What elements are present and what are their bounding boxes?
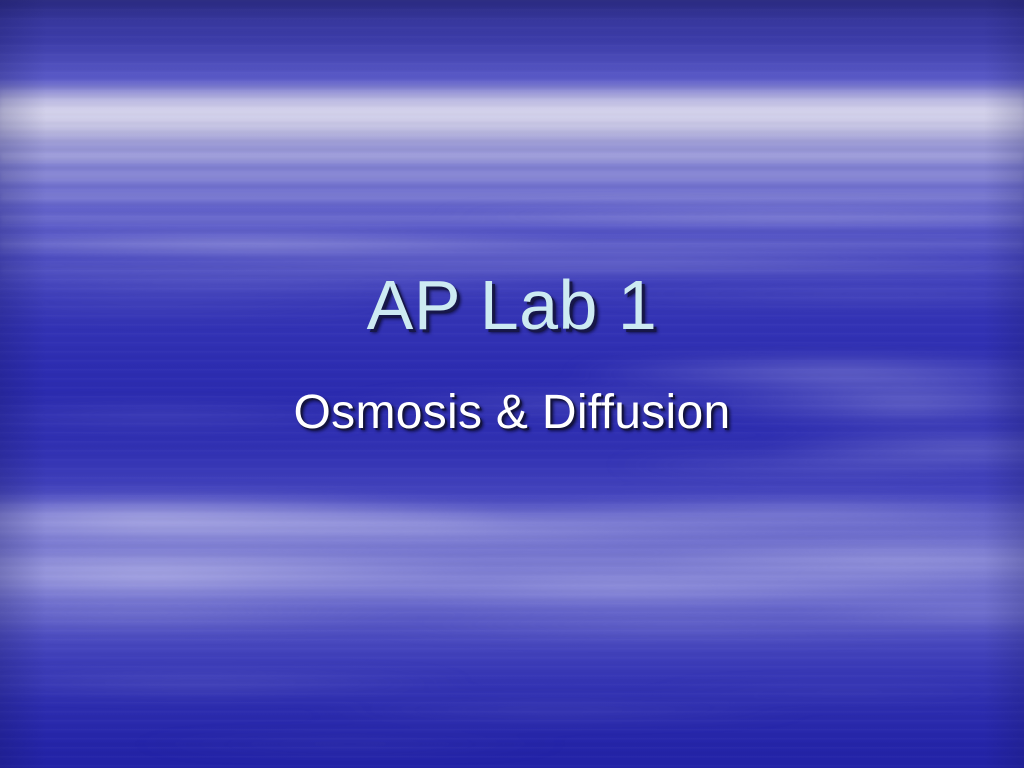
wisp-bottom-1 bbox=[0, 672, 480, 694]
wisp-lower-3 bbox=[500, 498, 1024, 532]
slide-subtitle: Osmosis & Diffusion bbox=[0, 342, 1024, 439]
wisp-lower-6 bbox=[640, 540, 1024, 584]
slide-title: AP Lab 1 bbox=[0, 268, 1024, 342]
wisp-lower-2 bbox=[60, 506, 820, 546]
wisp-lower-4 bbox=[0, 548, 500, 602]
wisp-bottom-2 bbox=[300, 700, 820, 720]
title-text-block: AP Lab 1 Osmosis & Diffusion bbox=[0, 268, 1024, 439]
wisp-lower-5 bbox=[240, 566, 1000, 606]
wisp-mid-1 bbox=[0, 232, 600, 258]
wisp-bottom-3 bbox=[640, 684, 1024, 700]
wisp-lower-8 bbox=[360, 612, 1000, 638]
wisp-lower-7 bbox=[0, 600, 440, 630]
wisp-bottom-4 bbox=[120, 736, 580, 752]
wisp-lower-1 bbox=[0, 494, 520, 546]
wisp-center-6 bbox=[600, 452, 1024, 478]
wisp-lower-9 bbox=[780, 596, 1024, 630]
presentation-slide: AP Lab 1 Osmosis & Diffusion bbox=[0, 0, 1024, 768]
wisp-mid-4 bbox=[420, 206, 1024, 224]
